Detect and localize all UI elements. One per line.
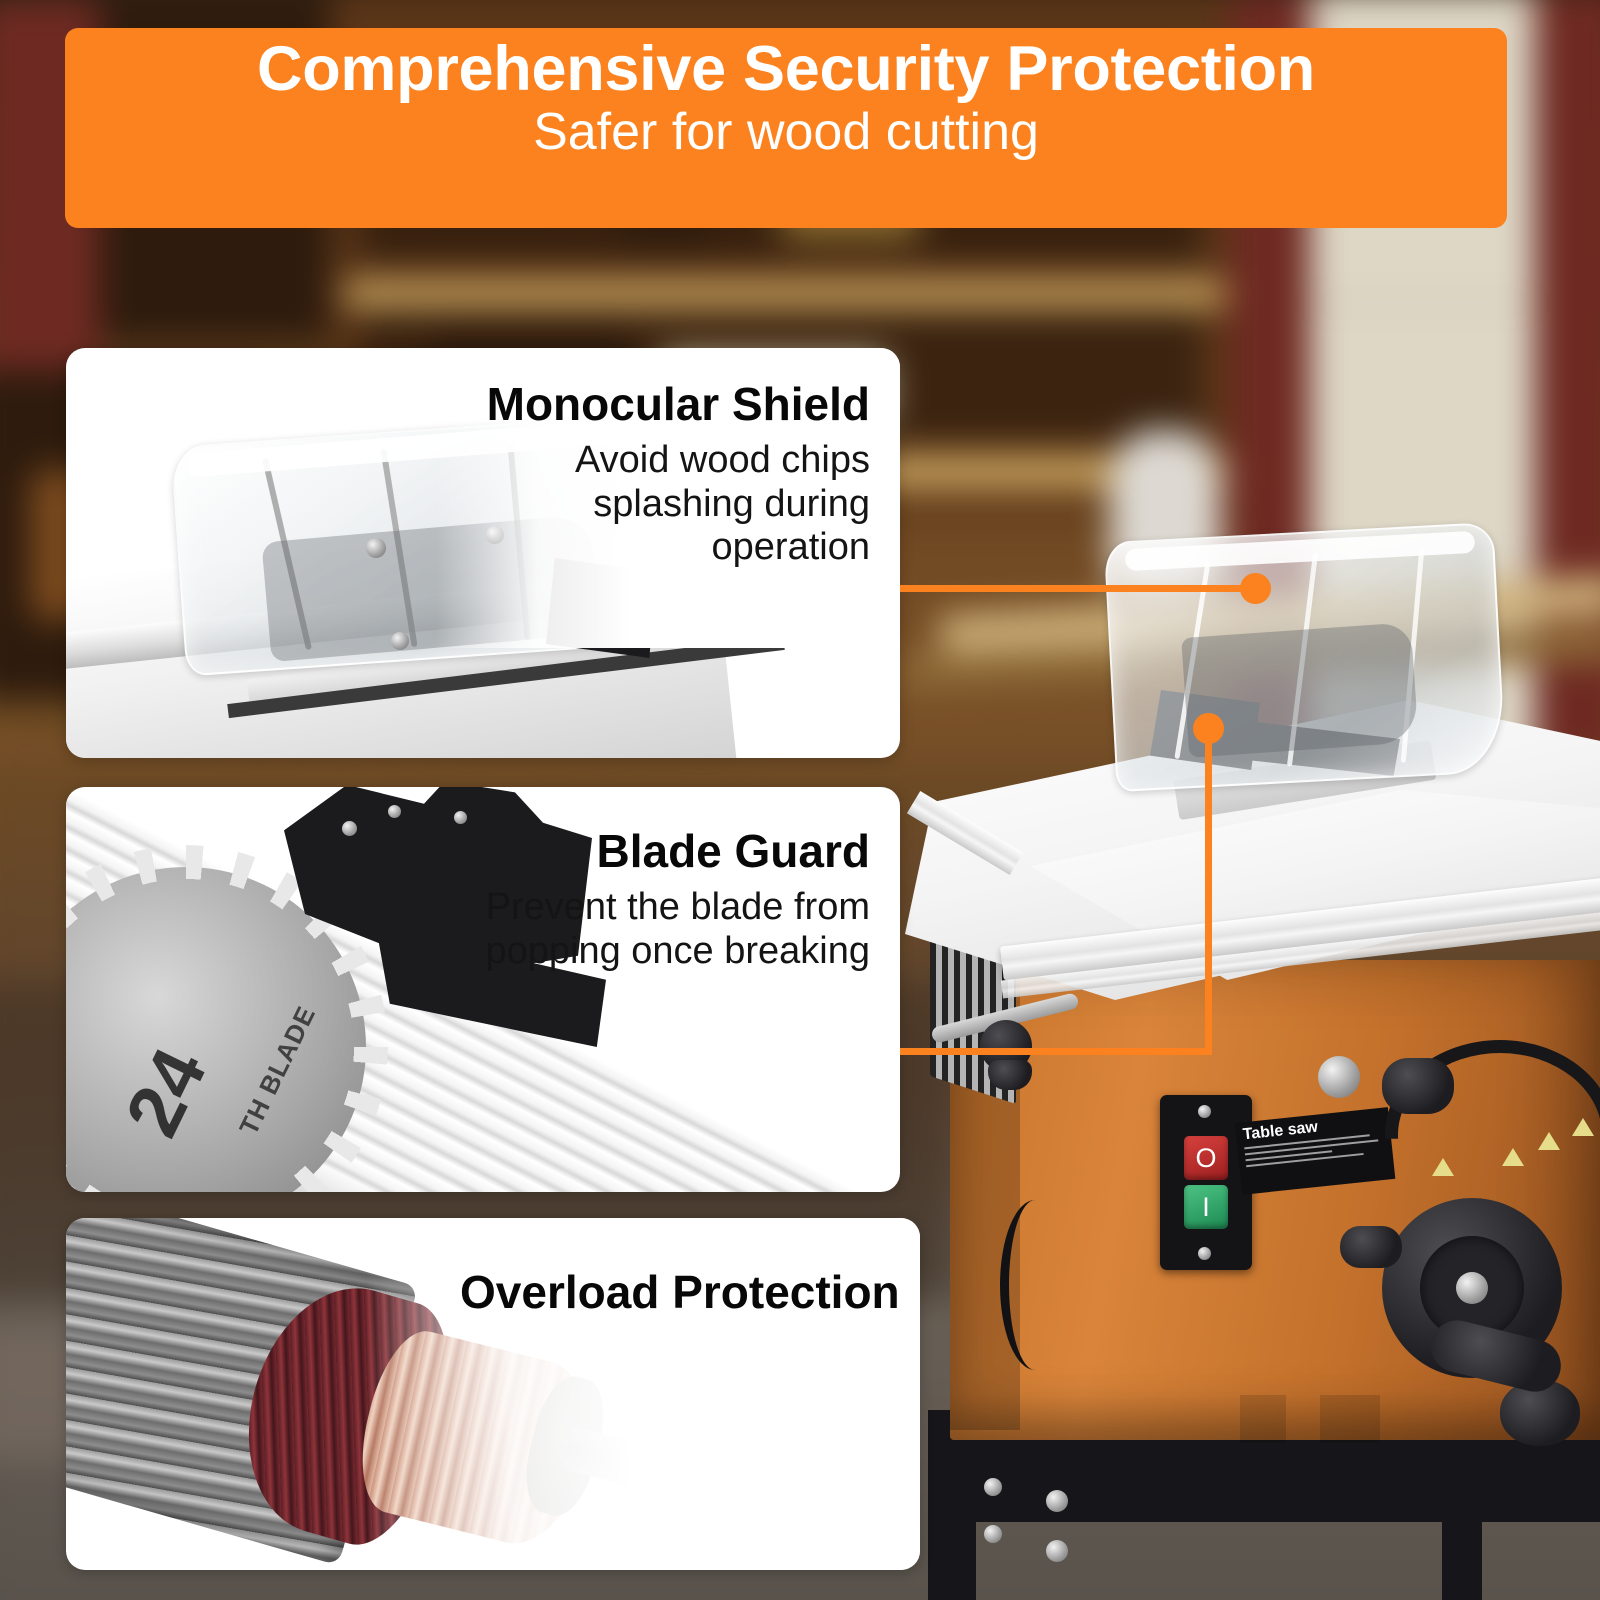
bevel-lock-wing-knob[interactable] xyxy=(1382,1058,1454,1114)
card1-text-block: Monocular Shield Avoid wood chips splash… xyxy=(470,380,870,569)
stand-bolt-3 xyxy=(984,1478,1002,1496)
connector-dot-shield xyxy=(1240,573,1271,604)
saw-body-rib-2 xyxy=(1320,1395,1380,1443)
bevel-marker-45 xyxy=(1572,1118,1594,1136)
power-cord xyxy=(1000,1200,1070,1370)
warning-label-line-4 xyxy=(1246,1153,1363,1167)
card2-guard-bolt-2 xyxy=(388,805,401,818)
feature-card-blade-guard: 24 TH BLADE Blade Guard Prevent the blad… xyxy=(66,787,900,1192)
connector-line-shield xyxy=(900,585,1258,592)
handwheel-center-bolt xyxy=(1456,1272,1488,1304)
card1-shield-bolt-3 xyxy=(391,632,409,650)
switch-screw-bottom xyxy=(1198,1247,1211,1260)
power-switch-box[interactable]: O I xyxy=(1160,1095,1252,1270)
card2-text-block: Blade Guard Prevent the blade from poppi… xyxy=(470,827,870,973)
card3-title: Overload Protection xyxy=(460,1268,900,1317)
stand-bolt-2 xyxy=(1046,1540,1068,1562)
switch-screw-top xyxy=(1198,1105,1211,1118)
stand-bolt-1 xyxy=(1046,1490,1068,1512)
bg-post-far-right xyxy=(1535,0,1600,820)
product-feature-graphic: O I Table saw xyxy=(0,0,1600,1600)
card1-title: Monocular Shield xyxy=(470,380,870,429)
saw-body-rib-1 xyxy=(1240,1395,1286,1443)
connector-line-guard-vertical xyxy=(1205,728,1212,1055)
card2-guard-bolt-3 xyxy=(454,811,467,824)
bevel-marker-30 xyxy=(1538,1132,1560,1150)
banner-title: Comprehensive Security Protection xyxy=(257,34,1315,105)
power-off-button[interactable]: O xyxy=(1184,1136,1228,1180)
handwheel-side-knob[interactable] xyxy=(1340,1226,1402,1268)
card1-shield-bolt-1 xyxy=(366,538,386,558)
card2-description: Prevent the blade from popping once brea… xyxy=(470,886,870,973)
banner-subtitle: Safer for wood cutting xyxy=(533,103,1039,161)
bg-cabinet-seam-1 xyxy=(1300,300,1540,306)
connector-line-guard-horizontal xyxy=(900,1048,1212,1055)
connector-dot-guard xyxy=(1193,713,1224,744)
bg-shelf-board-top xyxy=(345,280,1225,308)
housing-bolt-upper xyxy=(1318,1056,1360,1098)
feature-card-monocular-shield: Monocular Shield Avoid wood chips splash… xyxy=(66,348,900,758)
bevel-marker-0 xyxy=(1432,1158,1454,1176)
card3-text-block: Overload Protection xyxy=(460,1268,900,1317)
header-banner: Comprehensive Security Protection Safer … xyxy=(65,28,1507,228)
bevel-marker-15 xyxy=(1502,1148,1524,1166)
miter-handle xyxy=(988,1060,1032,1090)
stand-bolt-4 xyxy=(984,1525,1002,1543)
power-on-button[interactable]: I xyxy=(1184,1185,1228,1229)
card2-title: Blade Guard xyxy=(470,827,870,876)
feature-card-overload-protection: Overload Protection xyxy=(66,1218,920,1570)
card2-guard-bolt-1 xyxy=(342,821,357,836)
card1-description: Avoid wood chips splashing during operat… xyxy=(470,439,870,569)
